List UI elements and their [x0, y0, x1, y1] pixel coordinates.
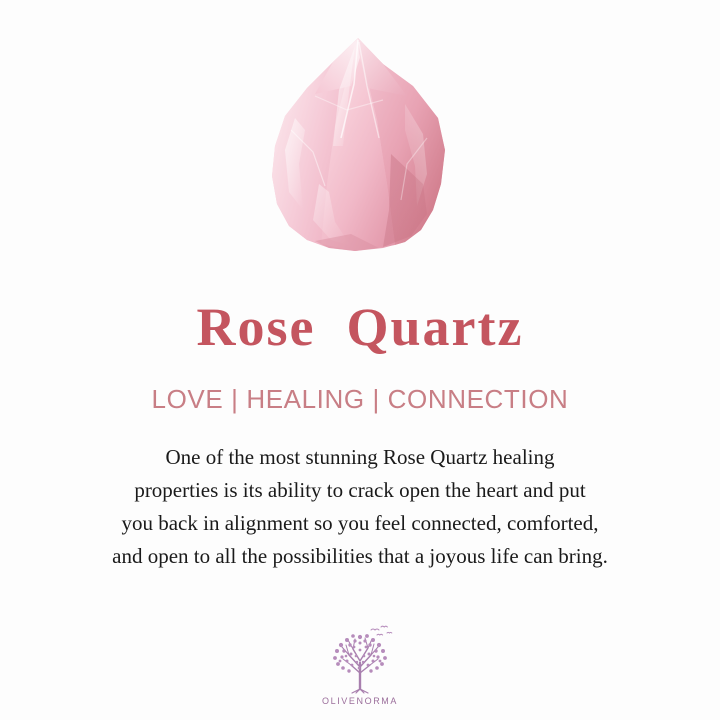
tree-icon	[321, 623, 399, 695]
keywords-subtitle: LOVE | HEALING | CONNECTION	[152, 354, 569, 415]
description-line: One of the most stunning Rose Quartz hea…	[30, 441, 690, 474]
description-line: properties is its ability to crack open …	[30, 474, 690, 507]
rose-quartz-crystal-icon	[255, 34, 465, 264]
brand-logo: OLIVENORMA	[0, 623, 720, 706]
tree-birds	[371, 626, 392, 635]
description-line: you back in alignment so you feel connec…	[30, 507, 690, 540]
rose-quartz-info-card: Rose Quartz LOVE | HEALING | CONNECTION …	[0, 0, 720, 720]
brand-wordmark: OLIVENORMA	[322, 696, 398, 706]
page-title: Rose Quartz	[197, 272, 524, 354]
tree-roots	[352, 689, 368, 693]
description-paragraph: One of the most stunning Rose Quartz hea…	[30, 415, 690, 573]
hero-image-area	[0, 0, 720, 272]
description-line: and open to all the possibilities that a…	[30, 540, 690, 573]
